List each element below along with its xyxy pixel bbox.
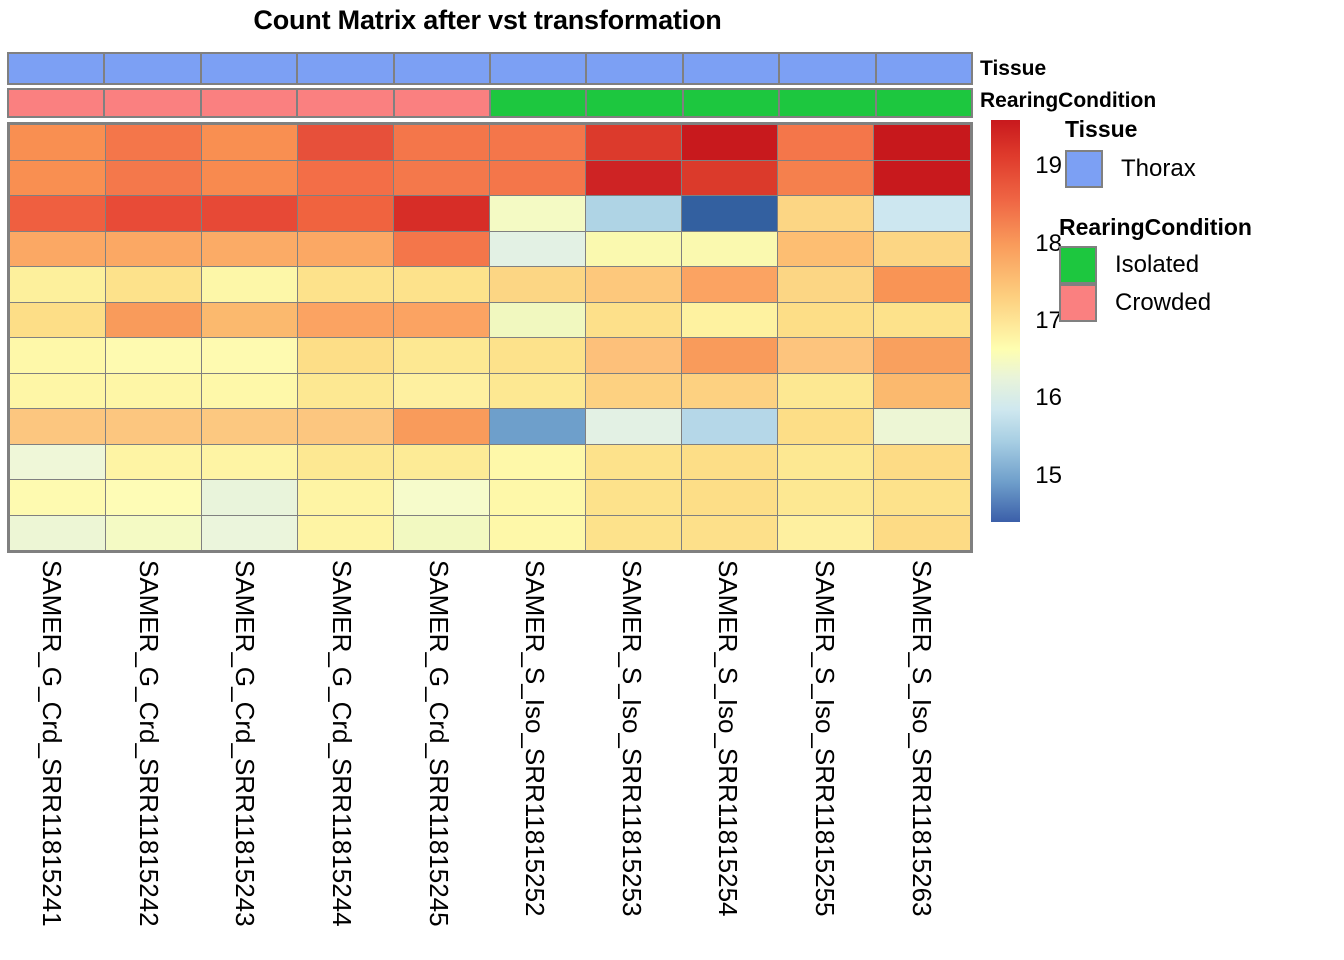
x-axis-tick-label: SAMER_S_Iso_SRR11815253 (619, 560, 645, 917)
heatmap-cell (297, 266, 395, 303)
heatmap-cell (681, 302, 779, 339)
heatmap-cell (777, 373, 875, 410)
heatmap-cell (873, 515, 971, 552)
heatmap-cell (9, 231, 107, 268)
annotation-rearingcondition-cell (296, 88, 394, 118)
heatmap-cell (585, 195, 683, 232)
x-axis-tick: SAMER_G_Crd_SRR11815242 (104, 556, 201, 956)
heatmap-cell (393, 479, 491, 516)
x-axis-tick: SAMER_S_Iso_SRR11815254 (683, 556, 780, 956)
x-axis-tick-label: SAMER_G_Crd_SRR11815242 (136, 560, 162, 927)
heatmap-cell (489, 337, 587, 374)
heatmap-row (9, 266, 971, 303)
legend-label-isolated: Isolated (1115, 253, 1199, 277)
legend-label-thorax: Thorax (1121, 157, 1196, 181)
heatmap-cell (489, 266, 587, 303)
heatmap-cell (393, 124, 491, 161)
heatmap-cell (585, 373, 683, 410)
annotation-rearingcondition-cell (7, 88, 105, 118)
heatmap-cell (777, 231, 875, 268)
legend-label-crowded: Crowded (1115, 291, 1211, 315)
heatmap-cell (201, 444, 299, 481)
heatmap-cell (681, 479, 779, 516)
heatmap-cell (393, 337, 491, 374)
heatmap-cell (393, 373, 491, 410)
heatmap-cell (393, 408, 491, 445)
heatmap-cell (777, 479, 875, 516)
heatmap-cell (105, 479, 203, 516)
heatmap-cell (777, 408, 875, 445)
annotation-rearingcondition-cell (489, 88, 587, 118)
heatmap-cell (105, 124, 203, 161)
heatmap-cell (873, 266, 971, 303)
heatmap-row (9, 373, 971, 410)
heatmap-cell (105, 515, 203, 552)
heatmap-cell (393, 160, 491, 197)
x-axis-tick: SAMER_S_Iso_SRR11815263 (876, 556, 973, 956)
annotation-tissue-cell (875, 52, 973, 85)
heatmap-cell (9, 337, 107, 374)
heatmap-cell (489, 408, 587, 445)
annotation-bar-rearingcondition (7, 88, 973, 118)
legend-swatch-crowded (1059, 284, 1097, 322)
heatmap-cell (873, 231, 971, 268)
heatmap-cell (777, 266, 875, 303)
heatmap-cell (297, 195, 395, 232)
x-axis-tick: SAMER_S_Iso_SRR11815255 (780, 556, 877, 956)
heatmap-cell (681, 408, 779, 445)
annotation-tissue-cell (7, 52, 105, 85)
heatmap-cell (393, 231, 491, 268)
heatmap-cell (681, 231, 779, 268)
annotation-rearingcondition-cell (200, 88, 298, 118)
heatmap-cell (105, 408, 203, 445)
x-axis-labels: SAMER_G_Crd_SRR11815241SAMER_G_Crd_SRR11… (7, 556, 973, 956)
colorbar-gradient (991, 120, 1020, 522)
heatmap-cell (201, 302, 299, 339)
heatmap-cell (873, 124, 971, 161)
heatmap-cell (681, 444, 779, 481)
heatmap-row (9, 160, 971, 197)
heatmap-cell (297, 231, 395, 268)
heatmap-cell (681, 124, 779, 161)
heatmap-cell (873, 479, 971, 516)
heatmap-cell (297, 373, 395, 410)
annotation-rearingcondition-cell (585, 88, 683, 118)
annotation-tissue-cell (778, 52, 876, 85)
heatmap-cell (777, 515, 875, 552)
heatmap-cell (201, 337, 299, 374)
heatmap-cell (9, 373, 107, 410)
heatmap-cell (873, 373, 971, 410)
heatmap-cell (9, 479, 107, 516)
legend-title-tissue: Tissue (1065, 118, 1137, 141)
heatmap-row (9, 195, 971, 232)
heatmap-cell (9, 124, 107, 161)
heatmap-cell (105, 160, 203, 197)
annotation-rearingcondition-cell (393, 88, 491, 118)
heatmap-cell (9, 515, 107, 552)
heatmap-cell (201, 373, 299, 410)
annotation-rearingcondition-cell (875, 88, 973, 118)
heatmap-cell (681, 266, 779, 303)
x-axis-tick: SAMER_G_Crd_SRR11815243 (200, 556, 297, 956)
annotation-tissue-cell (585, 52, 683, 85)
heatmap-cell (201, 408, 299, 445)
heatmap-cell (489, 124, 587, 161)
heatmap-cell (777, 444, 875, 481)
heatmap-cell (105, 337, 203, 374)
heatmap-cell (873, 444, 971, 481)
heatmap-cell (201, 479, 299, 516)
heatmap-cell (585, 231, 683, 268)
heatmap-row (9, 515, 971, 552)
x-axis-tick-label: SAMER_G_Crd_SRR11815245 (426, 560, 452, 927)
annotation-tissue-cell (296, 52, 394, 85)
heatmap-cell (297, 160, 395, 197)
heatmap-cell (393, 302, 491, 339)
heatmap-cell (585, 124, 683, 161)
annotation-tissue-cell (200, 52, 298, 85)
heatmap-row (9, 444, 971, 481)
heatmap-cell (105, 266, 203, 303)
legend-swatch-isolated (1059, 246, 1097, 284)
heatmap-row (9, 302, 971, 339)
heatmap-cell (201, 195, 299, 232)
x-axis-tick-label: SAMER_S_Iso_SRR11815263 (909, 560, 935, 917)
heatmap-cell (393, 195, 491, 232)
legend-title-rearingcondition: RearingCondition (1059, 216, 1252, 239)
heatmap-cell (777, 302, 875, 339)
heatmap-cell (105, 195, 203, 232)
heatmap-cell (393, 444, 491, 481)
heatmap-grid (7, 122, 973, 553)
heatmap-row (9, 408, 971, 445)
heatmap-cell (777, 124, 875, 161)
annotation-label-rearingcondition: RearingCondition (980, 90, 1156, 111)
heatmap-cell (585, 444, 683, 481)
heatmap-cell (585, 337, 683, 374)
heatmap-cell (585, 479, 683, 516)
heatmap-cell (489, 302, 587, 339)
heatmap-cell (873, 408, 971, 445)
heatmap-cell (489, 160, 587, 197)
heatmap-cell (393, 515, 491, 552)
heatmap-cell (105, 302, 203, 339)
heatmap-cell (9, 195, 107, 232)
heatmap-cell (873, 195, 971, 232)
heatmap-cell (297, 302, 395, 339)
colorbar-tick-label: 15 (1026, 464, 1062, 488)
heatmap-cell (489, 479, 587, 516)
heatmap-cell (873, 302, 971, 339)
x-axis-tick: SAMER_G_Crd_SRR11815241 (7, 556, 104, 956)
heatmap-cell (297, 444, 395, 481)
heatmap-cell (201, 124, 299, 161)
heatmap-cell (297, 479, 395, 516)
heatmap-cell (105, 444, 203, 481)
x-axis-tick: SAMER_G_Crd_SRR11815245 (393, 556, 490, 956)
x-axis-tick: SAMER_G_Crd_SRR11815244 (297, 556, 394, 956)
colorbar-tick-label: 17 (1026, 309, 1062, 333)
annotation-tissue-cell (489, 52, 587, 85)
heatmap-cell (681, 373, 779, 410)
heatmap-cell (681, 337, 779, 374)
heatmap-cell (777, 160, 875, 197)
x-axis-tick-label: SAMER_S_Iso_SRR11815255 (812, 560, 838, 917)
annotation-tissue-cell (682, 52, 780, 85)
annotation-rearingcondition-cell (778, 88, 876, 118)
heatmap-cell (777, 195, 875, 232)
x-axis-tick-label: SAMER_S_Iso_SRR11815254 (715, 560, 741, 917)
heatmap-cell (201, 266, 299, 303)
x-axis-tick: SAMER_S_Iso_SRR11815252 (490, 556, 587, 956)
annotation-tissue-cell (103, 52, 201, 85)
heatmap-cell (681, 195, 779, 232)
heatmap-cell (489, 444, 587, 481)
heatmap-cell (297, 337, 395, 374)
heatmap-cell (9, 444, 107, 481)
x-axis-tick-label: SAMER_G_Crd_SRR11815243 (232, 560, 258, 927)
colorbar-tick-label: 16 (1026, 386, 1062, 410)
heatmap-row (9, 479, 971, 516)
heatmap-row (9, 124, 971, 161)
heatmap-cell (489, 515, 587, 552)
heatmap-cell (105, 231, 203, 268)
heatmap-cell (585, 408, 683, 445)
annotation-bar-tissue (7, 52, 973, 85)
annotation-rearingcondition-cell (682, 88, 780, 118)
heatmap-cell (201, 515, 299, 552)
heatmap-cell (585, 302, 683, 339)
heatmap-cell (9, 160, 107, 197)
heatmap-cell (201, 231, 299, 268)
annotation-rearingcondition-cell (103, 88, 201, 118)
annotation-tissue-cell (393, 52, 491, 85)
heatmap-cell (585, 266, 683, 303)
heatmap-cell (105, 373, 203, 410)
heatmap-cell (873, 337, 971, 374)
heatmap-cell (681, 515, 779, 552)
heatmap-cell (489, 231, 587, 268)
heatmap-cell (297, 124, 395, 161)
heatmap-cell (9, 408, 107, 445)
annotation-label-tissue: Tissue (980, 58, 1046, 79)
heatmap-figure: Count Matrix after vst transformation Ti… (0, 0, 1344, 960)
heatmap-cell (201, 160, 299, 197)
chart-title: Count Matrix after vst transformation (0, 2, 975, 38)
colorbar-tick-label: 19 (1026, 154, 1062, 178)
legend-swatch-thorax (1065, 150, 1103, 188)
heatmap-cell (393, 266, 491, 303)
heatmap-cell (681, 160, 779, 197)
heatmap-cell (489, 373, 587, 410)
heatmap-cell (585, 160, 683, 197)
x-axis-tick: SAMER_S_Iso_SRR11815253 (587, 556, 684, 956)
heatmap-cell (9, 302, 107, 339)
heatmap-cell (873, 160, 971, 197)
x-axis-tick-label: SAMER_S_Iso_SRR11815252 (522, 560, 548, 917)
x-axis-tick-label: SAMER_G_Crd_SRR11815241 (39, 560, 65, 927)
x-axis-tick-label: SAMER_G_Crd_SRR11815244 (329, 560, 355, 927)
heatmap-row (9, 231, 971, 268)
heatmap-cell (297, 408, 395, 445)
heatmap-cell (297, 515, 395, 552)
colorbar-tick-label: 18 (1026, 232, 1062, 256)
heatmap-cell (489, 195, 587, 232)
heatmap-row (9, 337, 971, 374)
heatmap-cell (9, 266, 107, 303)
heatmap-cell (585, 515, 683, 552)
heatmap-cell (777, 337, 875, 374)
